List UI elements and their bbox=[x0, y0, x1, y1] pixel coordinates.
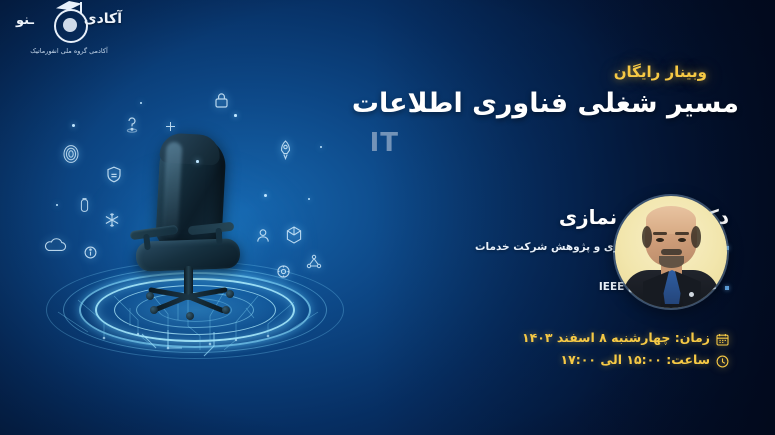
chair-leg bbox=[188, 287, 228, 299]
chair-caster bbox=[222, 306, 230, 314]
glow-dot bbox=[320, 146, 322, 148]
schedule-time-row: ساعت: ۱۵:۰۰ الی ۱۷:۰۰ bbox=[560, 352, 729, 367]
graduation-cap-icon bbox=[54, 9, 88, 43]
glow-dot bbox=[196, 160, 199, 163]
chair-caster bbox=[226, 290, 234, 298]
avatar-eye-right bbox=[678, 238, 686, 242]
schedule-date-row: زمان: چهارشنبه ۸ اسفند ۱۴۰۳ bbox=[522, 330, 729, 345]
logo-word-right: آکادی bbox=[84, 11, 122, 27]
chair-leg bbox=[148, 287, 188, 299]
schedule-row-wrap: زمان: چهارشنبه ۸ اسفند ۱۴۰۳ bbox=[459, 330, 729, 352]
avatar-hair-left bbox=[642, 226, 652, 248]
glow-dot bbox=[264, 194, 267, 197]
title-subscript: IT bbox=[370, 128, 399, 158]
avatar-eye-left bbox=[656, 238, 664, 242]
avatar-forehead bbox=[646, 206, 696, 234]
chair-caster bbox=[150, 306, 158, 314]
schedule-row-wrap: ساعت: ۱۵:۰۰ الی ۱۷:۰۰ bbox=[459, 352, 729, 374]
avatar-mustache bbox=[661, 249, 682, 255]
speaker-avatar bbox=[615, 196, 727, 308]
hero-illustration bbox=[18, 78, 368, 378]
logo-wordmark-row: آکادی ـنو bbox=[14, 7, 124, 39]
glow-dot bbox=[72, 124, 75, 127]
logo-word-left: ـنو bbox=[16, 13, 34, 28]
webinar-poster: آکادی ـنو آکادمی گروه ملی انفورماتیک bbox=[0, 0, 775, 435]
chair-caster bbox=[186, 312, 194, 320]
avatar-goatee bbox=[659, 256, 684, 268]
schedule-block: زمان: چهارشنبه ۸ اسفند ۱۴۰۳ ساعت: ۱۵:۰۰ … bbox=[459, 330, 729, 374]
office-chair-illustration bbox=[130, 136, 260, 321]
chair-caster bbox=[146, 292, 154, 300]
schedule-time-text: ساعت: ۱۵:۰۰ الی ۱۷:۰۰ bbox=[560, 352, 710, 367]
page-title: مسیر شغلی فناوری اطلاعات bbox=[352, 88, 739, 119]
avatar-brow-right bbox=[675, 232, 689, 235]
glow-dot bbox=[234, 114, 237, 117]
chair-base bbox=[148, 294, 232, 318]
glow-dot bbox=[308, 198, 310, 200]
avatar-brow-left bbox=[653, 232, 667, 235]
glow-dot bbox=[140, 102, 142, 104]
schedule-date-text: زمان: چهارشنبه ۸ اسفند ۱۴۰۳ bbox=[522, 330, 710, 345]
calendar-icon bbox=[716, 331, 729, 344]
chair-arm-post-right bbox=[215, 228, 222, 244]
webinar-kicker: وبینار رایگان bbox=[614, 63, 707, 81]
clock-icon bbox=[716, 353, 729, 366]
glow-dot bbox=[56, 204, 58, 206]
avatar-lapel-pin bbox=[689, 292, 694, 297]
content-panel: وبینار رایگان مسیر شغلی فناوری اطلاعات I… bbox=[327, 0, 757, 435]
avatar-hair-right bbox=[691, 226, 701, 248]
brand-logo[interactable]: آکادی ـنو آکادمی گروه ملی انفورماتیک bbox=[14, 7, 124, 55]
brand-tagline: آکادمی گروه ملی انفورماتیک bbox=[14, 47, 124, 55]
cap-tassel-icon bbox=[80, 2, 82, 13]
